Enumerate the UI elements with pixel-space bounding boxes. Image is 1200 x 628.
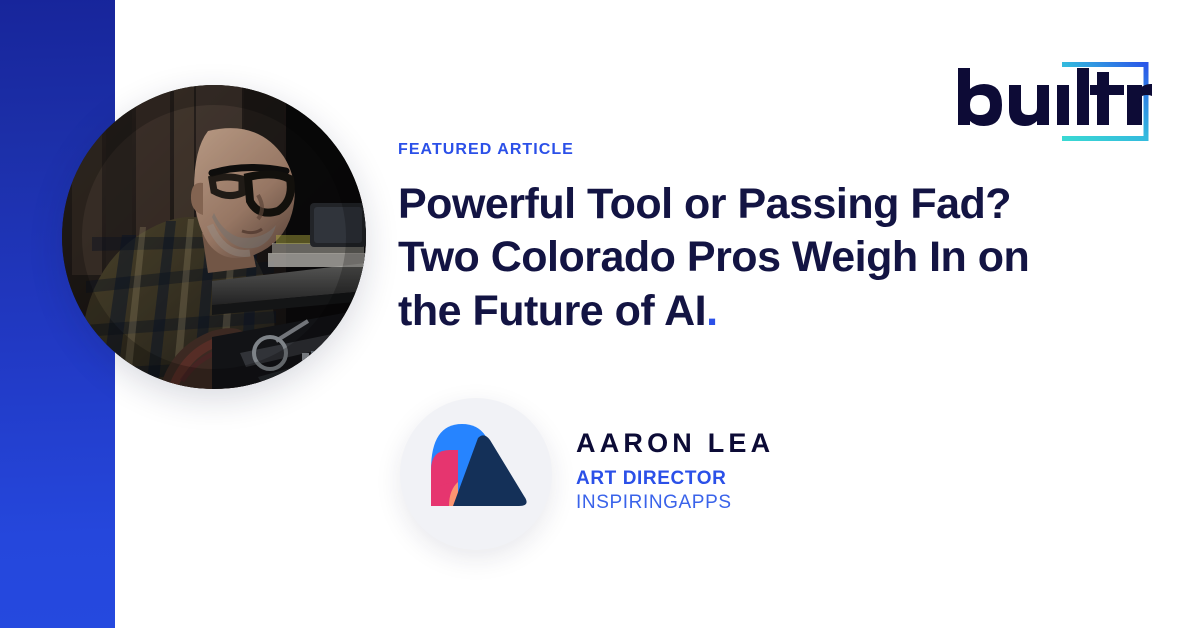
eyebrow-label: FEATURED ARTICLE	[398, 142, 1078, 158]
page-title: Powerful Tool or Passing Fad? Two Colora…	[398, 178, 1078, 338]
builtin-logo-mark	[952, 48, 1152, 153]
author-name: AARON LEA	[576, 429, 774, 459]
author-details: AARON LEA ART DIRECTOR INSPIRINGAPPS	[576, 429, 774, 519]
author-company: INSPIRINGAPPS	[576, 492, 774, 515]
headline-accent-dot: .	[706, 287, 717, 335]
headline-line-3: the Future of AI	[398, 287, 706, 335]
headline-line-2: Two Colorado Pros Weigh In on	[398, 233, 1029, 281]
article-text-block: FEATURED ARTICLE Powerful Tool or Passin…	[398, 142, 1078, 338]
avatar	[400, 398, 552, 550]
headline-line-1: Powerful Tool or Passing Fad?	[398, 180, 1011, 228]
author-role: ART DIRECTOR	[576, 468, 774, 490]
builtin-wordmark	[958, 48, 1124, 126]
builtin-logo[interactable]	[952, 48, 1152, 153]
author-portrait	[62, 85, 366, 389]
inspiringapps-logo-icon	[400, 398, 552, 550]
portrait-illustration	[62, 85, 366, 389]
author-block: AARON LEA ART DIRECTOR INSPIRINGAPPS	[400, 398, 774, 550]
featured-article-card: FEATURED ARTICLE Powerful Tool or Passin…	[0, 0, 1200, 628]
